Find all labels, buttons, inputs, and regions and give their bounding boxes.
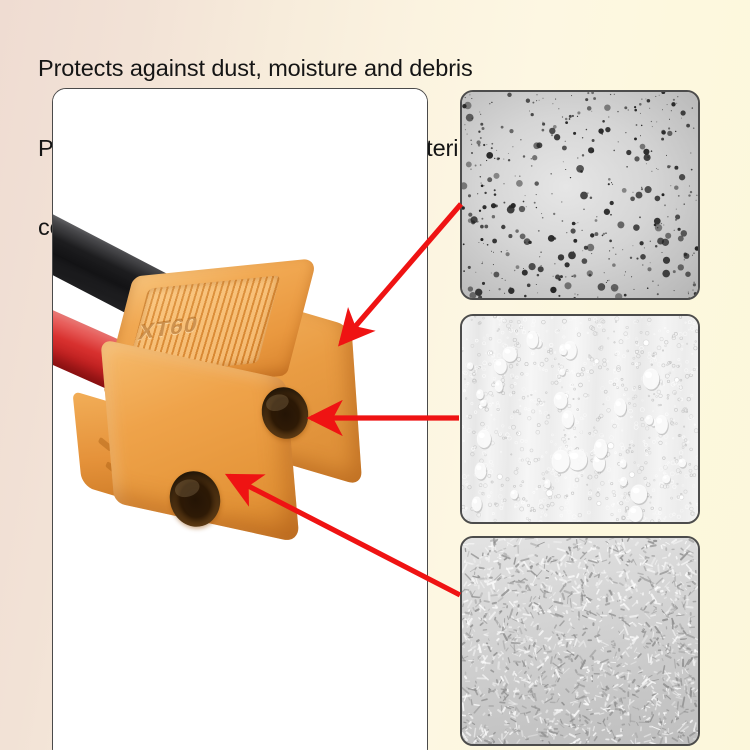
inset-photo-dust bbox=[460, 90, 700, 300]
product-photo-card: XT60 bbox=[52, 88, 428, 750]
xt60-connector: XT60 bbox=[63, 265, 353, 595]
dust-particles-icon bbox=[462, 92, 698, 298]
inset-photo-snow bbox=[460, 536, 700, 746]
water-droplets-icon bbox=[462, 316, 698, 522]
snow-granules-icon bbox=[462, 538, 698, 744]
inset-photo-water bbox=[460, 314, 700, 524]
product-feature-graphic: Protects against dust, moisture and debr… bbox=[0, 0, 750, 750]
product-photo: XT60 bbox=[53, 89, 427, 750]
headline-line-1: Protects against dust, moisture and debr… bbox=[38, 55, 738, 82]
